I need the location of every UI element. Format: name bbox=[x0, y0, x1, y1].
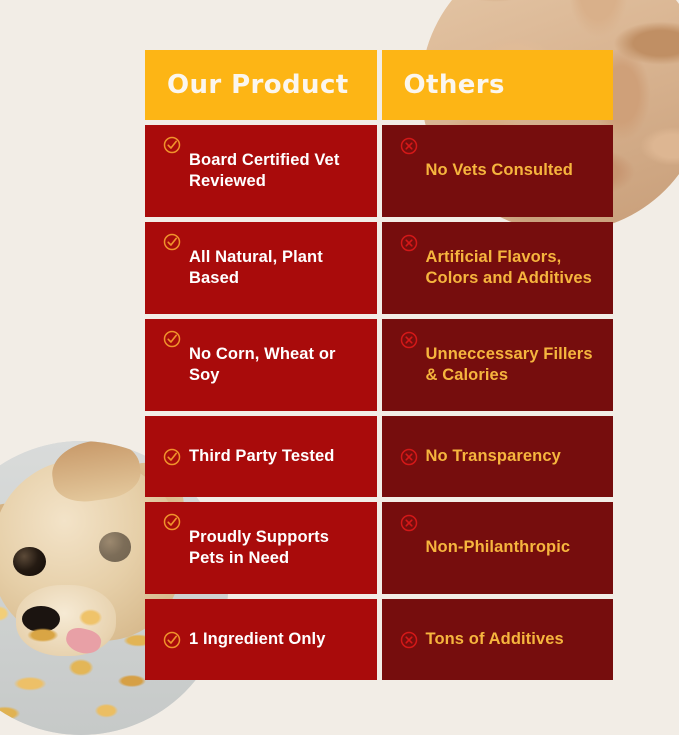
table-row-others-3: Unneccessary Fillers & Calories bbox=[382, 319, 614, 411]
row-label: 1 Ingredient Only bbox=[189, 629, 325, 650]
row-label: Artificial Flavors, Colors and Additives bbox=[426, 247, 600, 289]
table-row-ours-6: 1 Ingredient Only bbox=[145, 599, 377, 680]
row-label: Non-Philanthropic bbox=[426, 537, 571, 558]
check-circle-icon bbox=[163, 631, 181, 649]
check-circle-icon bbox=[163, 233, 181, 251]
row-label: Board Certified Vet Reviewed bbox=[189, 150, 363, 192]
table-row-others-4: No Transparency bbox=[382, 416, 614, 497]
row-label: All Natural, Plant Based bbox=[189, 247, 363, 289]
dog-eye-left bbox=[13, 547, 45, 576]
column-others: Others No Vets Consulted Artificial Flav… bbox=[382, 50, 614, 680]
row-label: Proudly Supports Pets in Need bbox=[189, 527, 363, 569]
check-circle-icon bbox=[163, 513, 181, 531]
row-label: No Corn, Wheat or Soy bbox=[189, 344, 363, 386]
column-header-label: Others bbox=[404, 70, 505, 100]
row-label: No Transparency bbox=[426, 446, 561, 467]
table-row-ours-1: Board Certified Vet Reviewed bbox=[145, 125, 377, 217]
cross-circle-icon bbox=[400, 234, 418, 252]
table-row-others-2: Artificial Flavors, Colors and Additives bbox=[382, 222, 614, 314]
cross-circle-icon bbox=[400, 448, 418, 466]
row-label: Tons of Additives bbox=[426, 629, 564, 650]
cross-circle-icon bbox=[400, 137, 418, 155]
table-row-ours-4: Third Party Tested bbox=[145, 416, 377, 497]
table-row-others-6: Tons of Additives bbox=[382, 599, 614, 680]
dog-eye-right bbox=[99, 532, 131, 561]
table-row-others-5: Non-Philanthropic bbox=[382, 502, 614, 594]
table-row-others-1: No Vets Consulted bbox=[382, 125, 614, 217]
column-header-others: Others bbox=[382, 50, 614, 120]
check-circle-icon bbox=[163, 136, 181, 154]
comparison-table: Our Product Board Certified Vet Reviewed… bbox=[145, 50, 613, 680]
table-row-ours-2: All Natural, Plant Based bbox=[145, 222, 377, 314]
cross-circle-icon bbox=[400, 631, 418, 649]
cross-circle-icon bbox=[400, 514, 418, 532]
check-circle-icon bbox=[163, 448, 181, 466]
column-our-product: Our Product Board Certified Vet Reviewed… bbox=[145, 50, 377, 680]
cross-circle-icon bbox=[400, 331, 418, 349]
column-header-label: Our Product bbox=[167, 70, 349, 100]
column-header-our-product: Our Product bbox=[145, 50, 377, 120]
row-label: No Vets Consulted bbox=[426, 160, 573, 181]
table-row-ours-3: No Corn, Wheat or Soy bbox=[145, 319, 377, 411]
row-label: Third Party Tested bbox=[189, 446, 334, 467]
table-row-ours-5: Proudly Supports Pets in Need bbox=[145, 502, 377, 594]
row-label: Unneccessary Fillers & Calories bbox=[426, 344, 600, 386]
check-circle-icon bbox=[163, 330, 181, 348]
